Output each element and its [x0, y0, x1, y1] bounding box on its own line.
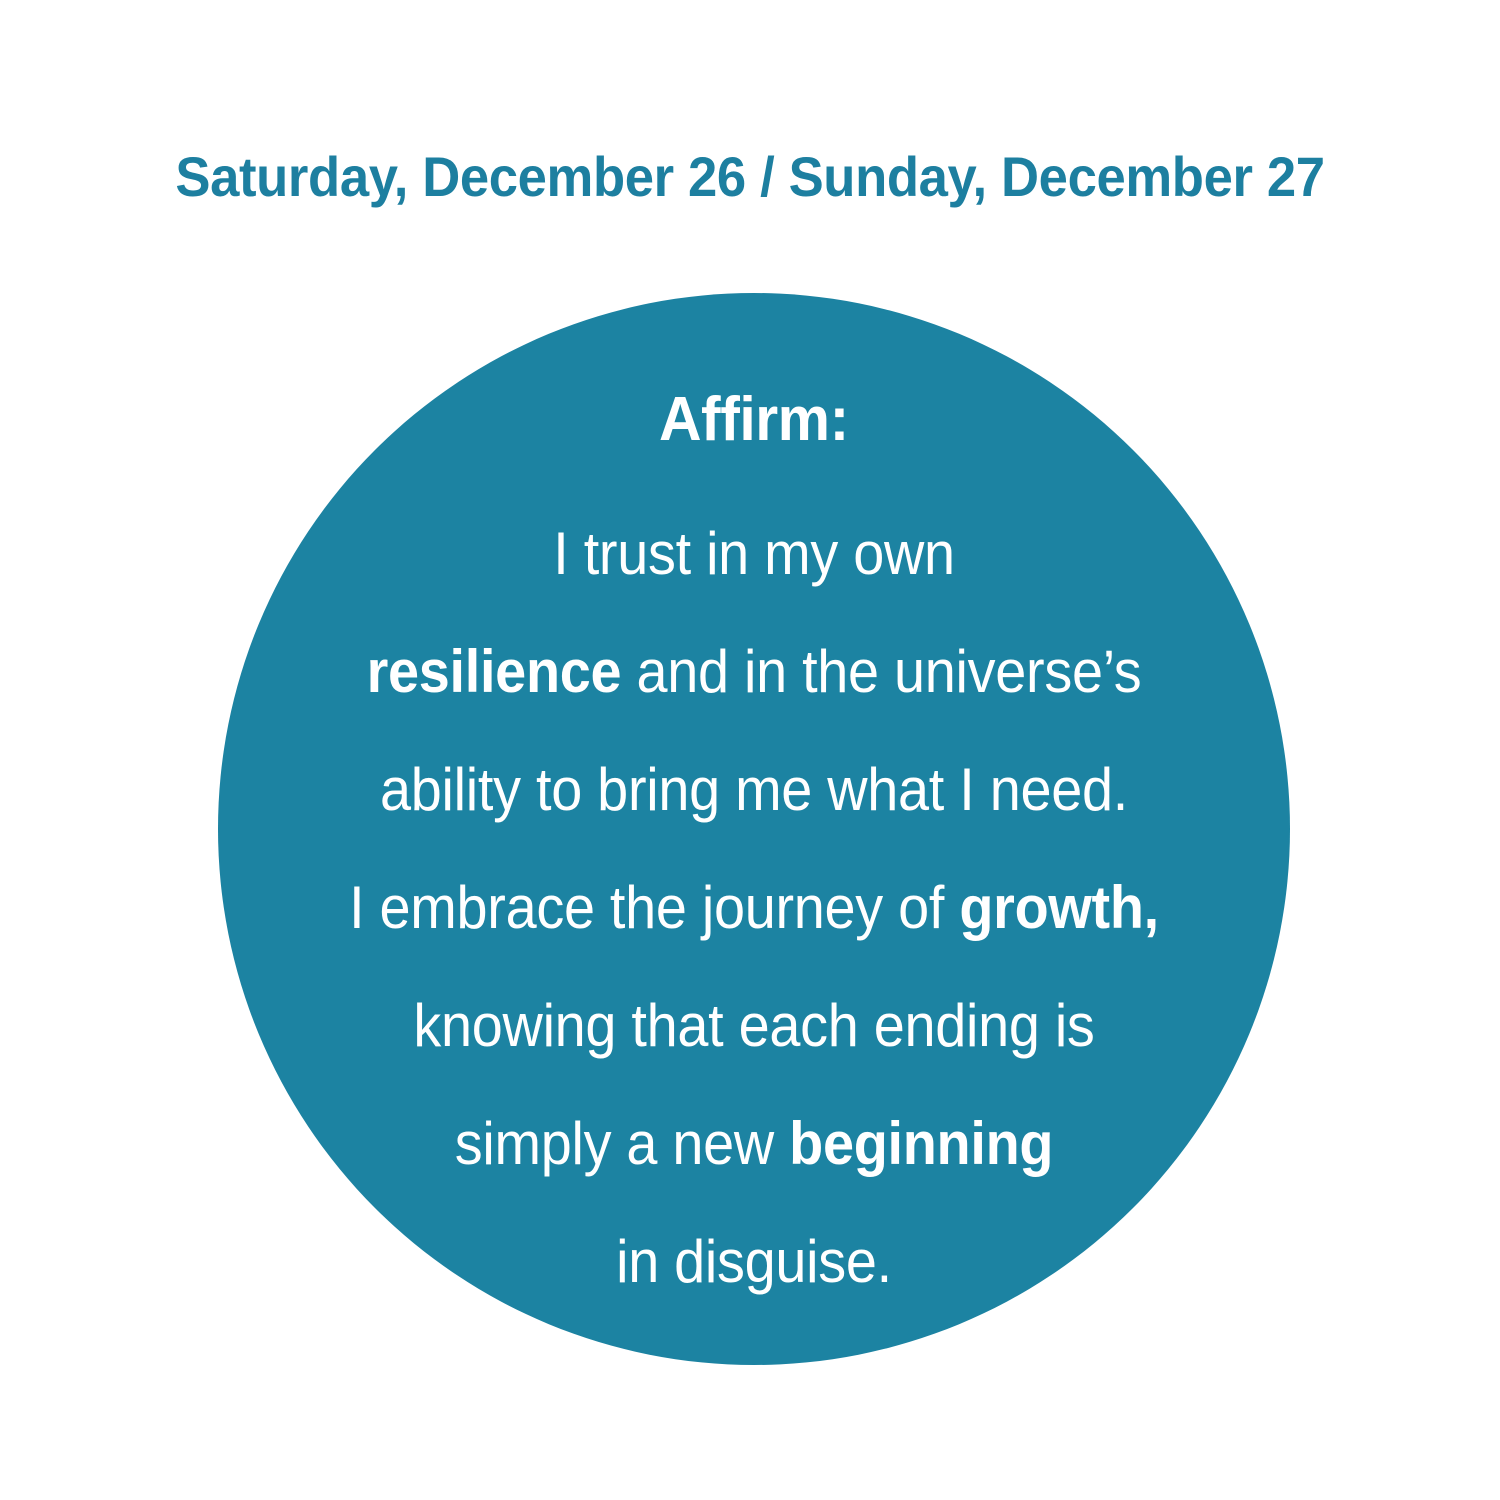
affirmation-line: simply a new beginning [308, 1085, 1201, 1203]
affirmation-line: knowing that each ending is [308, 967, 1201, 1085]
affirmation-body-text: I trust in my ownresilience and in the u… [274, 495, 1234, 1321]
page-title: Saturday, December 26 / Sunday, December… [45, 148, 1455, 207]
affirmation-text: in disguise. [616, 1228, 892, 1295]
emphasis-word: growth, [959, 874, 1159, 941]
affirmation-text: ability to bring me what I need. [380, 756, 1128, 823]
affirmation-line: I trust in my own [308, 495, 1201, 613]
emphasis-word: resilience [367, 638, 622, 705]
affirmation-card: Saturday, December 26 / Sunday, December… [0, 0, 1500, 1500]
affirmation-text: I embrace the journey of [349, 874, 959, 941]
affirmation-circle: Affirm: I trust in my ownresilience and … [218, 293, 1290, 1365]
affirmation-line: resilience and in the universe’s [308, 613, 1201, 731]
affirmation-line: in disguise. [308, 1203, 1201, 1321]
affirm-heading: Affirm: [659, 389, 849, 451]
emphasis-word: beginning [789, 1110, 1053, 1177]
affirmation-text: simply a new [455, 1110, 789, 1177]
affirmation-text: knowing that each ending is [413, 992, 1094, 1059]
affirmation-line: I embrace the journey of growth, [308, 849, 1201, 967]
affirmation-text: and in the universe’s [621, 638, 1141, 705]
affirmation-line: ability to bring me what I need. [308, 731, 1201, 849]
affirmation-text: I trust in my own [553, 520, 954, 587]
